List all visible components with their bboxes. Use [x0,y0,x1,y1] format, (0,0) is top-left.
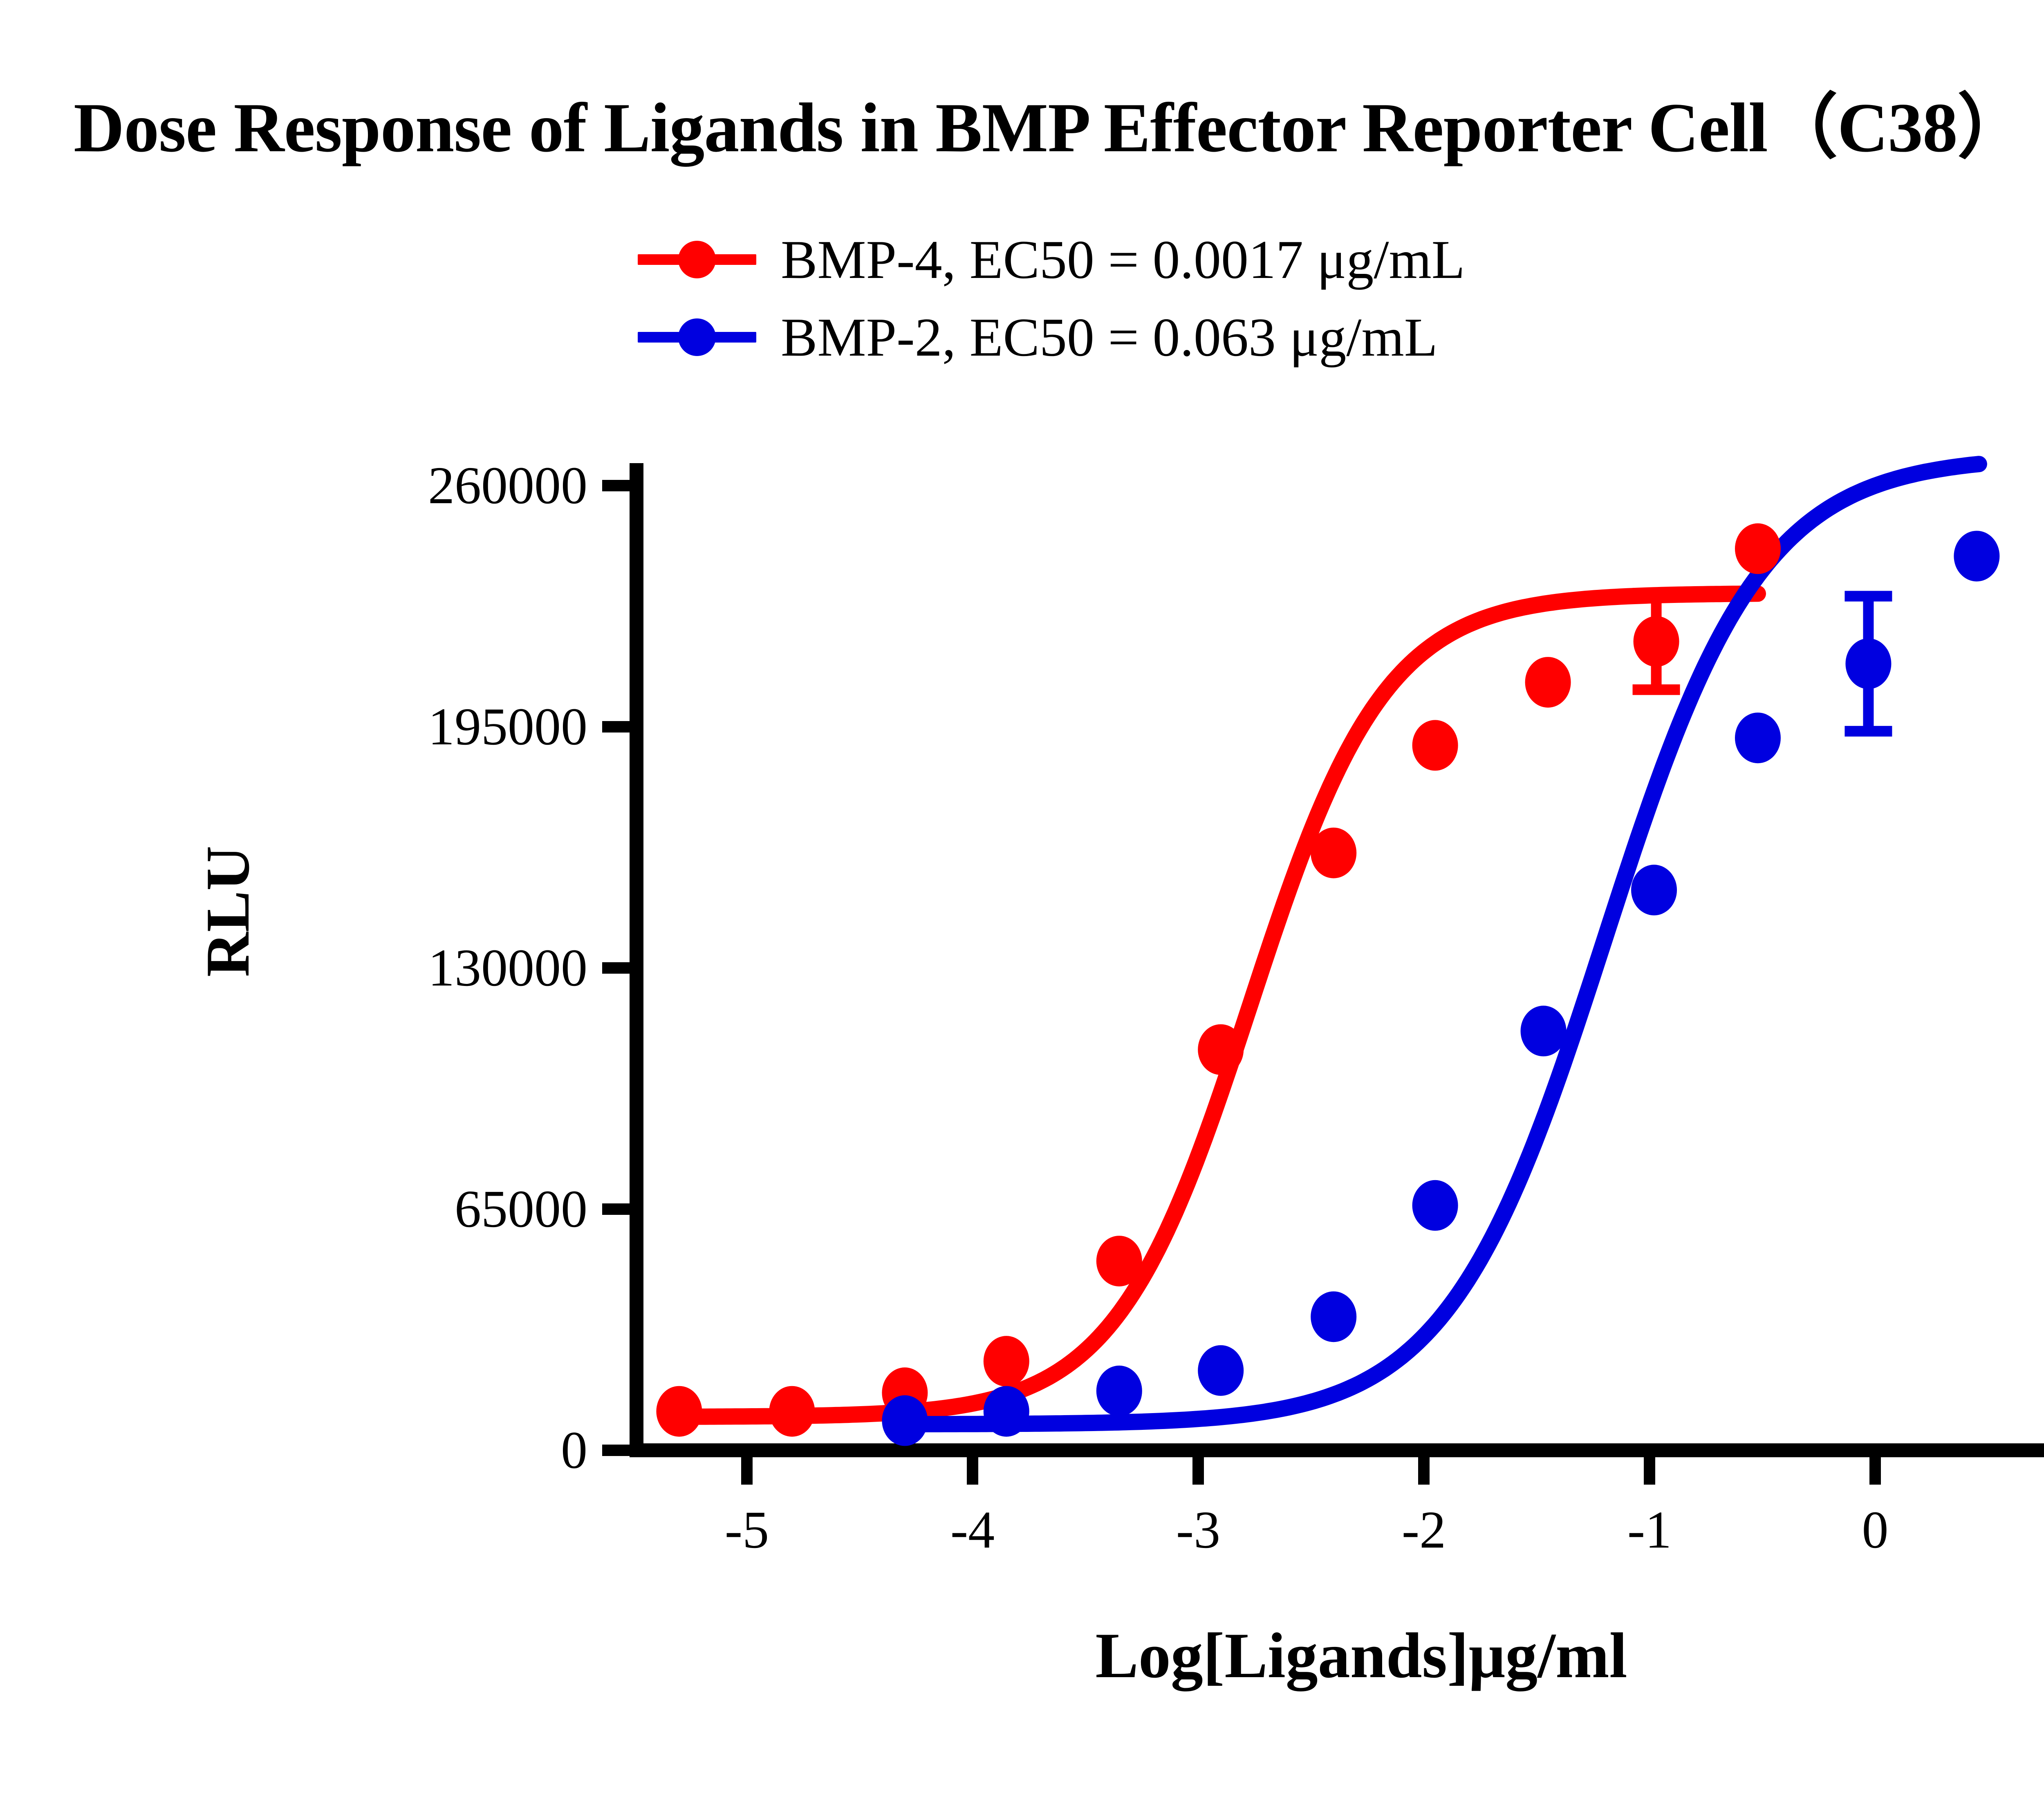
data-point-bmp-2[interactable] [1412,1180,1458,1231]
data-point-bmp-2[interactable] [1735,712,1781,763]
data-point-bmp-2[interactable] [1631,865,1677,915]
x-axis-tick-label: 0 [1862,1499,1889,1561]
data-point-bmp-2[interactable] [1521,1006,1567,1056]
chart-figure: Dose Response of Ligands in BMP Effector… [0,0,2044,1819]
x-axis-tick-label: -3 [1176,1499,1220,1561]
fit-curve-bmp-2 [898,464,1979,1424]
data-point-bmp-2[interactable] [1198,1345,1244,1396]
y-axis-tick-label: 130000 [428,937,587,999]
data-point-bmp-2[interactable] [1954,531,1999,581]
data-point-bmp-4[interactable] [1311,828,1356,878]
data-point-bmp-4[interactable] [1634,616,1679,667]
data-point-bmp-2[interactable] [882,1395,928,1446]
y-axis-tick-label: 260000 [428,455,587,516]
y-axis-tick-label: 0 [561,1420,587,1481]
data-point-bmp-4[interactable] [1412,720,1458,771]
x-axis-tick-label: -4 [950,1499,995,1561]
data-point-bmp-2[interactable] [1096,1366,1142,1416]
y-axis-tick-label: 195000 [428,696,587,757]
data-point-bmp-4[interactable] [1735,523,1781,574]
data-point-bmp-4[interactable] [1525,657,1571,708]
data-point-bmp-2[interactable] [984,1386,1029,1437]
data-point-bmp-4[interactable] [656,1386,702,1437]
data-point-bmp-4[interactable] [1096,1236,1142,1286]
data-point-bmp-4[interactable] [1198,1024,1244,1075]
x-axis-tick-label: -1 [1627,1499,1672,1561]
y-axis-title: RLU [192,846,263,977]
data-point-bmp-2[interactable] [1845,638,1891,689]
data-point-bmp-4[interactable] [984,1336,1029,1387]
data-point-bmp-4[interactable] [769,1386,815,1437]
fit-curve-bmp-4 [668,594,1758,1417]
x-axis-tick-label: -5 [725,1499,769,1561]
plot-area [0,0,2044,1819]
y-axis-tick-label: 65000 [455,1178,587,1240]
x-axis-tick-label: -2 [1402,1499,1446,1561]
data-point-bmp-2[interactable] [1311,1291,1356,1342]
x-axis-title: Log[Ligands]μg/ml [1095,1619,1627,1693]
